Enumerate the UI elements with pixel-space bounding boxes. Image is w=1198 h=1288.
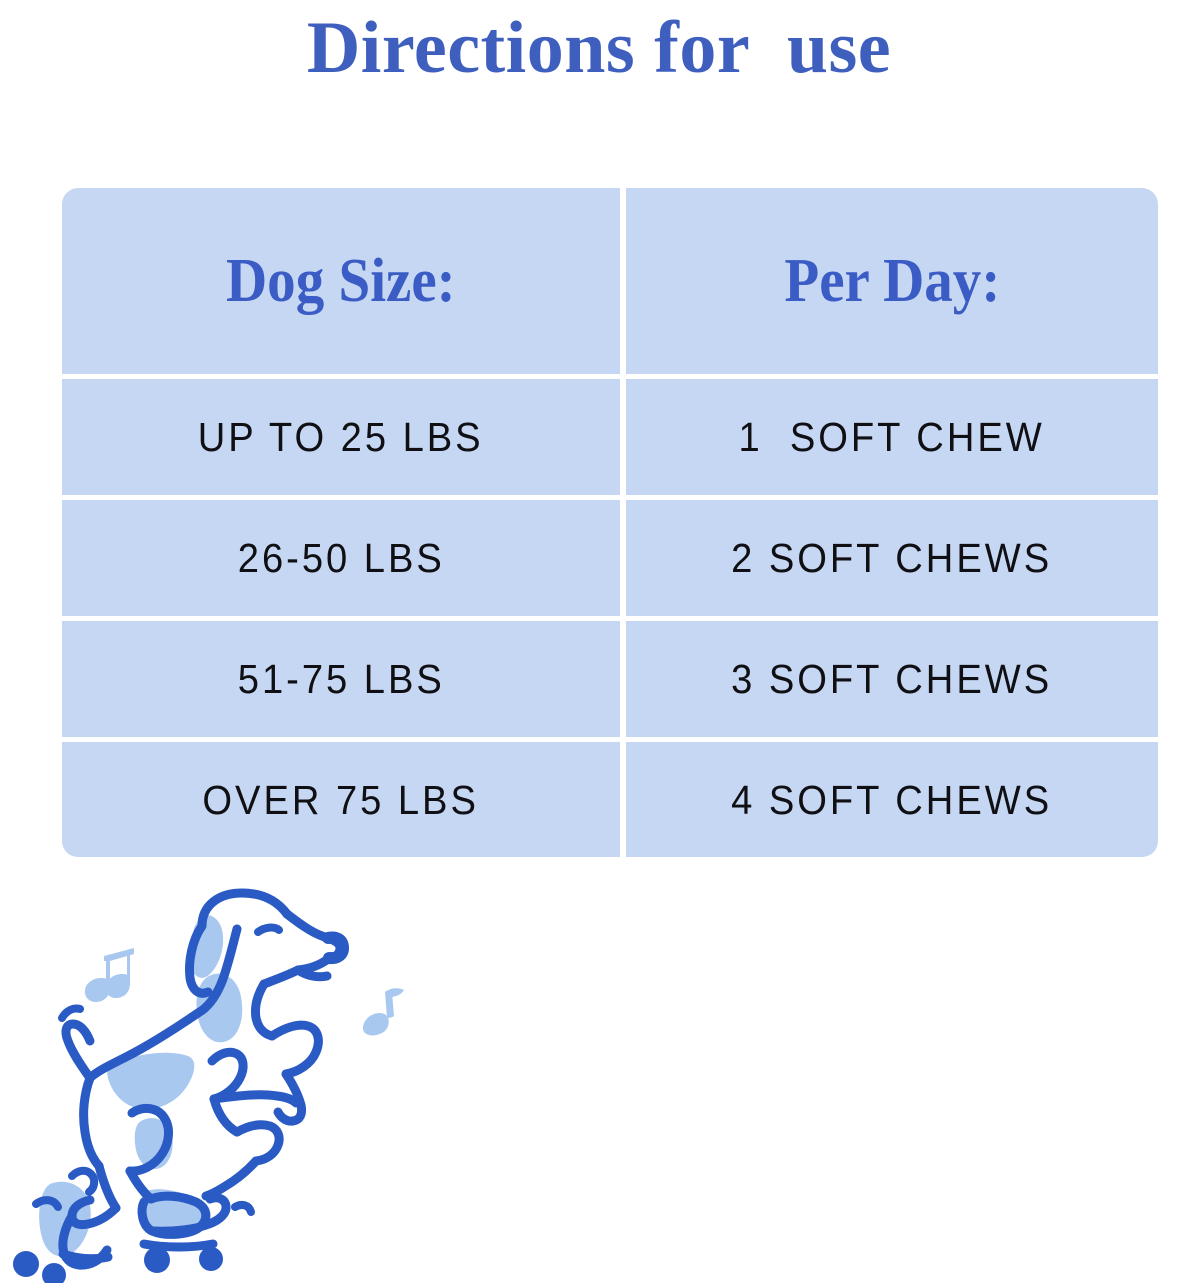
music-note-double-icon (85, 948, 134, 1002)
table-cell-per-day-label: 3 SOFT CHEWS (731, 657, 1052, 701)
table-row: UP TO 25 LBS 1 SOFT CHEW (62, 374, 1158, 495)
skate-wheel (42, 1263, 66, 1283)
table-row: 26-50 LBS 2 SOFT CHEWS (62, 495, 1158, 616)
table-cell-dog-size: 51-75 LBS (62, 616, 620, 737)
table-cell-dog-size-label: UP TO 25 LBS (198, 415, 484, 459)
table-header-dog-size-label: Dog Size: (226, 250, 456, 312)
table-cell-per-day-label: 2 SOFT CHEWS (731, 536, 1052, 580)
skate-wheel (13, 1251, 39, 1277)
dog-illustration-svg (6, 866, 426, 1283)
table-row: OVER 75 LBS 4 SOFT CHEWS (62, 737, 1158, 857)
table-cell-per-day: 2 SOFT CHEWS (626, 495, 1158, 616)
table-cell-per-day-label: 1 SOFT CHEW (739, 415, 1045, 459)
table-header-dog-size: Dog Size: (62, 188, 620, 374)
table-cell-dog-size-label: 26-50 LBS (238, 536, 445, 580)
skate-wheel (144, 1247, 170, 1273)
table-cell-dog-size: 26-50 LBS (62, 495, 620, 616)
dosage-table: Dog Size: Per Day: UP TO 25 LBS 1 SOFT C… (62, 188, 1158, 857)
table-cell-dog-size-label: 51-75 LBS (238, 657, 445, 701)
table-header-row: Dog Size: Per Day: (62, 188, 1158, 374)
table-cell-per-day: 4 SOFT CHEWS (626, 737, 1158, 857)
table-cell-dog-size: UP TO 25 LBS (62, 374, 620, 495)
table-cell-per-day-label: 4 SOFT CHEWS (731, 778, 1052, 822)
dog-on-roller-skates-illustration (6, 866, 426, 1283)
table-row: 51-75 LBS 3 SOFT CHEWS (62, 616, 1158, 737)
table-header-per-day: Per Day: (626, 188, 1158, 374)
music-note-single-icon (363, 988, 404, 1035)
table-cell-dog-size-label: OVER 75 LBS (203, 778, 479, 822)
table-cell-per-day: 3 SOFT CHEWS (626, 616, 1158, 737)
skate-wheel (199, 1247, 223, 1271)
table-cell-per-day: 1 SOFT CHEW (626, 374, 1158, 495)
table-header-per-day-label: Per Day: (784, 250, 1000, 312)
table-cell-dog-size: OVER 75 LBS (62, 737, 620, 857)
page-title: Directions for use (0, 2, 1198, 94)
